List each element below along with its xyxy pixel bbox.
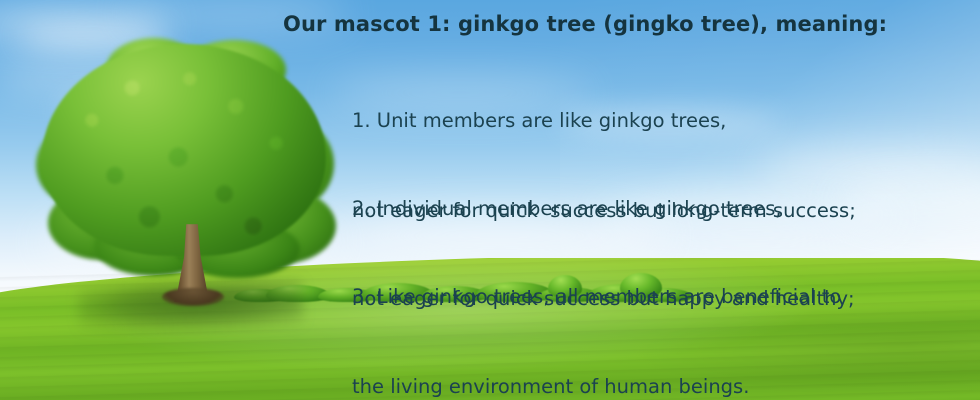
banner-headline: Our mascot 1: ginkgo tree (gingko tree),… bbox=[283, 12, 887, 36]
meaning-2-line-1: 2. Individual members are like ginkgo tr… bbox=[352, 194, 855, 224]
mascot-banner: Our mascot 1: ginkgo tree (gingko tree),… bbox=[0, 0, 980, 400]
meaning-1-line-1: 1. Unit members are like ginkgo trees, bbox=[352, 106, 856, 136]
text-overlay: Our mascot 1: ginkgo tree (gingko tree),… bbox=[0, 0, 980, 400]
meaning-3-line-1: 3. Like ginkgo trees, all members are be… bbox=[352, 282, 841, 312]
mascot-meaning-item-3: 3. Like ginkgo trees, all members are be… bbox=[352, 222, 841, 400]
meaning-3-line-2: the living environment of human beings. bbox=[352, 372, 841, 400]
